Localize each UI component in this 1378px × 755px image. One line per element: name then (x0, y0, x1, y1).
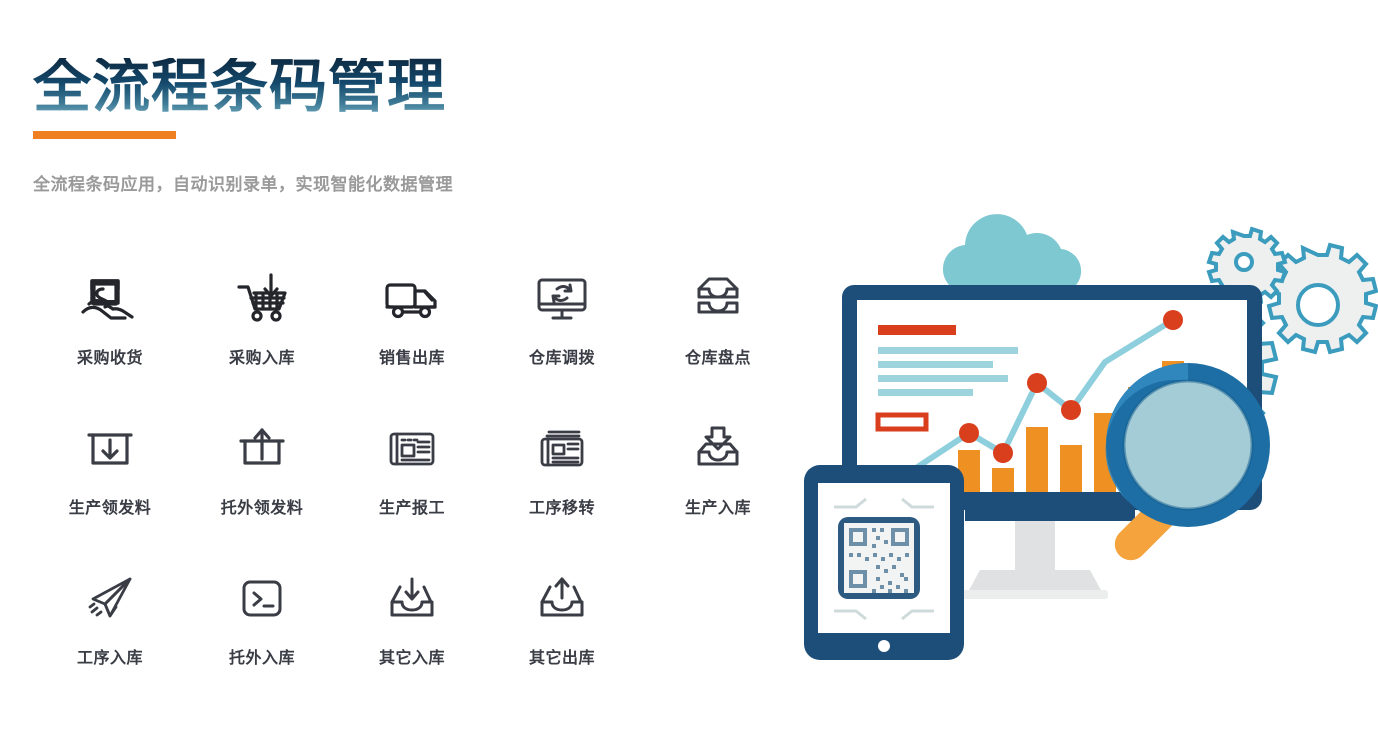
tray-arrow-up-icon (487, 568, 637, 630)
box-in-icon (35, 418, 185, 480)
feature-label: 托外领发料 (187, 494, 337, 518)
feature-item-production-report[interactable]: 生产报工 (337, 418, 487, 518)
feature-label: 其它出库 (487, 644, 637, 668)
feature-label: 仓库盘点 (643, 344, 793, 368)
feature-label: 生产报工 (337, 494, 487, 518)
feature-label: 其它入库 (337, 644, 487, 668)
feature-label: 工序移转 (487, 494, 637, 518)
feature-label: 采购收货 (35, 344, 185, 368)
monitor-transfer-icon (487, 268, 637, 330)
page-root: 全流程条码管理 全流程条码应用，自动识别录单，实现智能化数据管理 (0, 0, 1378, 755)
inbox-arrow-down-icon (643, 418, 793, 480)
page-subtitle: 全流程条码应用，自动识别录单，实现智能化数据管理 (33, 170, 453, 195)
feature-label: 生产领发料 (35, 494, 185, 518)
feature-label: 托外入库 (187, 644, 337, 668)
feature-label: 生产入库 (643, 494, 793, 518)
cloud-icon (943, 214, 1081, 293)
feature-item-warehouse-stocktake[interactable]: 仓库盘点 (643, 268, 793, 368)
feature-item-production-inbound[interactable]: 生产入库 (643, 418, 793, 518)
title-accent-rule (33, 131, 176, 139)
hand-package-icon (35, 268, 185, 330)
feature-item-production-issue[interactable]: 生产领发料 (35, 418, 185, 518)
paper-plane-icon (35, 568, 185, 630)
cart-download-icon (187, 268, 337, 330)
header-block: 全流程条码管理 (33, 58, 446, 116)
feature-row: 生产领发料 托外领发料 (0, 418, 800, 568)
feature-item-outsource-issue[interactable]: 托外领发料 (187, 418, 337, 518)
feature-item-outsource-inbound[interactable]: 托外入库 (187, 568, 337, 668)
feature-label: 工序入库 (35, 644, 185, 668)
terminal-icon (187, 568, 337, 630)
feature-item-process-inbound[interactable]: 工序入库 (35, 568, 185, 668)
box-out-icon (187, 418, 337, 480)
newspaper-stack-icon (487, 418, 637, 480)
feature-grid: 采购收货 采 (0, 268, 800, 718)
magnifier-icon (1106, 363, 1270, 567)
tablet-device (804, 465, 964, 660)
feature-item-process-transfer[interactable]: 工序移转 (487, 418, 637, 518)
feature-label: 销售出库 (337, 344, 487, 368)
feature-row: 工序入库 托外入库 (0, 568, 800, 718)
tray-arrow-down-icon (337, 568, 487, 630)
feature-item-other-outbound[interactable]: 其它出库 (487, 568, 637, 668)
feature-label: 仓库调拨 (487, 344, 637, 368)
feature-item-purchase-receipt[interactable]: 采购收货 (35, 268, 185, 368)
page-title: 全流程条码管理 (33, 58, 446, 116)
feature-item-warehouse-transfer[interactable]: 仓库调拨 (487, 268, 637, 368)
stacked-trays-icon (643, 268, 793, 330)
feature-row: 采购收货 采 (0, 268, 800, 418)
feature-item-other-inbound[interactable]: 其它入库 (337, 568, 487, 668)
barcode-analytics-illustration (790, 165, 1378, 670)
qr-code (838, 517, 920, 599)
delivery-truck-icon (337, 268, 487, 330)
feature-item-purchase-inbound[interactable]: 采购入库 (187, 268, 337, 368)
newspaper-icon (337, 418, 487, 480)
feature-item-sales-outbound[interactable]: 销售出库 (337, 268, 487, 368)
feature-label: 采购入库 (187, 344, 337, 368)
